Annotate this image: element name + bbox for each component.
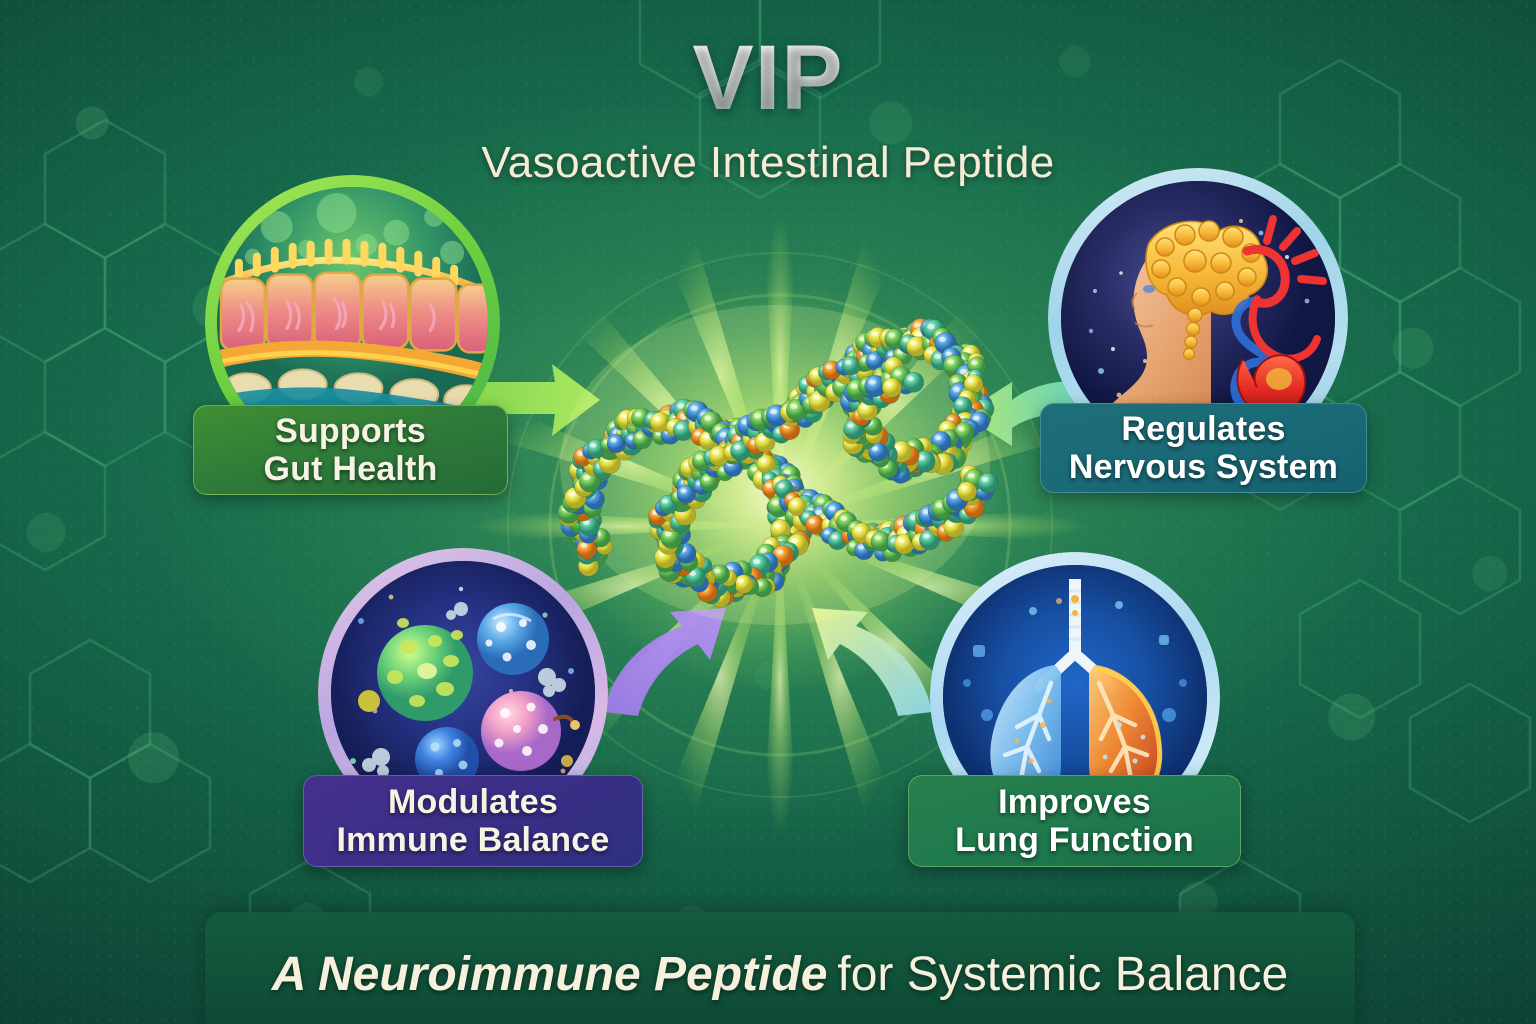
label-nerve-line2: Nervous System [1069, 448, 1338, 486]
label-lung-function[interactable]: Improves Lung Function [908, 775, 1241, 867]
label-lung-line2: Lung Function [955, 821, 1194, 859]
peptide-molecule-icon [535, 255, 1015, 655]
infographic-canvas: VIP Vasoactive Intestinal Peptide [0, 0, 1536, 1024]
banner-emphasis: A Neuroimmune Peptide [272, 948, 828, 1001]
banner-text: A Neuroimmune Peptidefor Systemic Balanc… [272, 947, 1288, 1002]
page-subtitle: Vasoactive Intestinal Peptide [0, 138, 1536, 188]
label-nervous-system[interactable]: Regulates Nervous System [1040, 403, 1367, 493]
label-gut-health[interactable]: Supports Gut Health [193, 405, 508, 495]
label-immune-line2: Immune Balance [336, 821, 609, 859]
label-immune-balance[interactable]: Modulates Immune Balance [303, 775, 643, 867]
label-gut-line2: Gut Health [264, 450, 438, 488]
bottom-banner: A Neuroimmune Peptidefor Systemic Balanc… [205, 912, 1355, 1024]
banner-rest: for Systemic Balance [837, 948, 1288, 1001]
page-title: VIP [0, 26, 1536, 131]
label-lung-line1: Improves [998, 783, 1151, 821]
label-gut-line1: Supports [275, 412, 426, 450]
label-immune-line1: Modulates [388, 783, 558, 821]
label-nerve-line1: Regulates [1121, 410, 1285, 448]
